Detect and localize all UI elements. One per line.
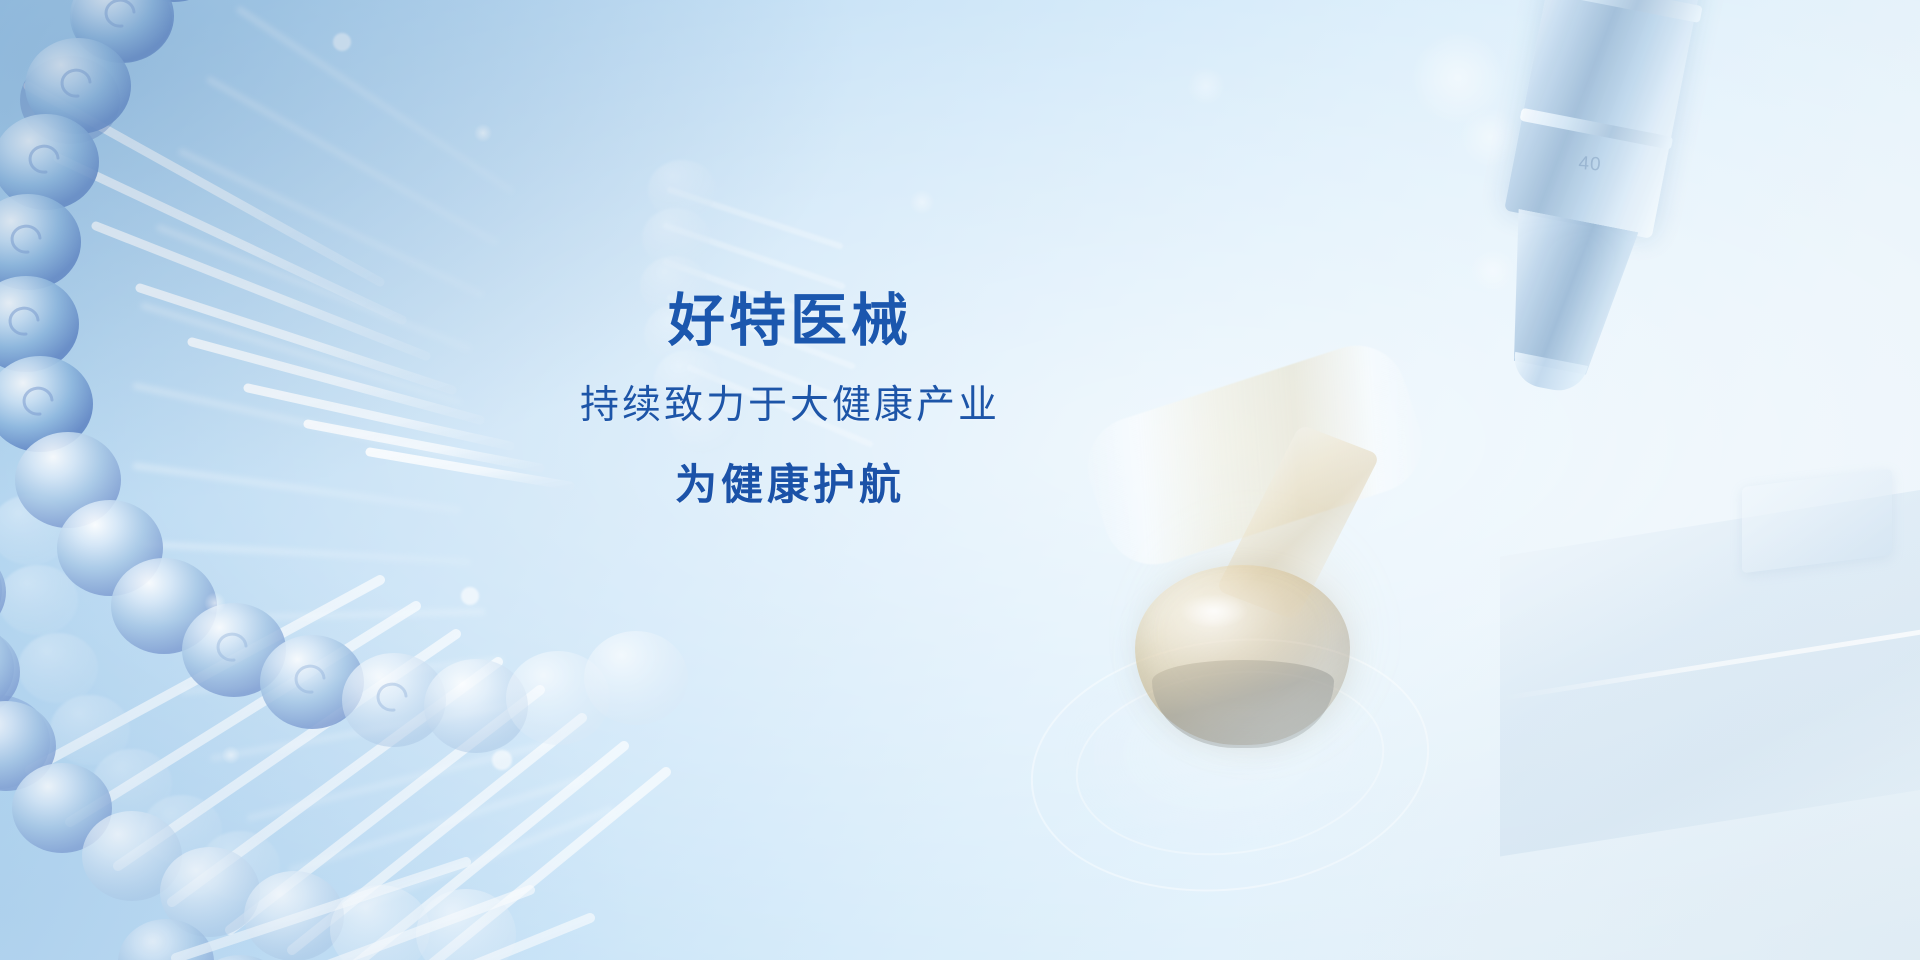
bokeh-circle <box>1462 240 1524 302</box>
flask-highlight <box>1168 588 1260 634</box>
bokeh-circle <box>218 742 244 768</box>
bokeh-circle <box>905 185 939 219</box>
hero-banner: 40 好特医械 持续致力于大健康产业 为健康护航 <box>0 0 1920 960</box>
microscope-collar <box>1520 108 1674 150</box>
bokeh-circle <box>200 588 230 618</box>
microscope-taper <box>1490 209 1638 380</box>
dna-helix-graphic <box>0 0 890 960</box>
bokeh-circle <box>1448 95 1532 179</box>
lab-bench-surface <box>1500 490 1920 857</box>
bokeh-circle <box>1398 18 1518 138</box>
bokeh-circle <box>470 120 496 146</box>
microscope-collar <box>1540 0 1702 23</box>
hero-copy-block: 好特医械 持续致力于大健康产业 为健康护航 <box>0 288 1920 510</box>
glass-tube <box>1075 333 1435 578</box>
microscope-magnification-label: 40 <box>1578 153 1603 177</box>
page-title: 好特医械 <box>580 288 1000 355</box>
petri-dish-inner-rim <box>1065 654 1395 872</box>
hero-tagline: 为健康护航 <box>580 460 1000 510</box>
glassware-glow <box>1090 470 1420 800</box>
lab-bench-edge <box>1500 630 1920 702</box>
flask-bowl <box>1135 565 1350 745</box>
bokeh-circle <box>1180 60 1232 112</box>
hero-subtitle: 持续致力于大健康产业 <box>580 383 1000 430</box>
background-vignette <box>0 0 1920 960</box>
petri-dish-rim <box>1016 617 1443 914</box>
microscope-icon: 40 <box>1432 0 1747 413</box>
flask-liquid <box>1152 660 1334 748</box>
lab-equipment-panel <box>1742 469 1892 573</box>
microscope-lens <box>1510 352 1588 396</box>
microscope-barrel <box>1504 0 1708 239</box>
flask-neck <box>1216 424 1381 621</box>
